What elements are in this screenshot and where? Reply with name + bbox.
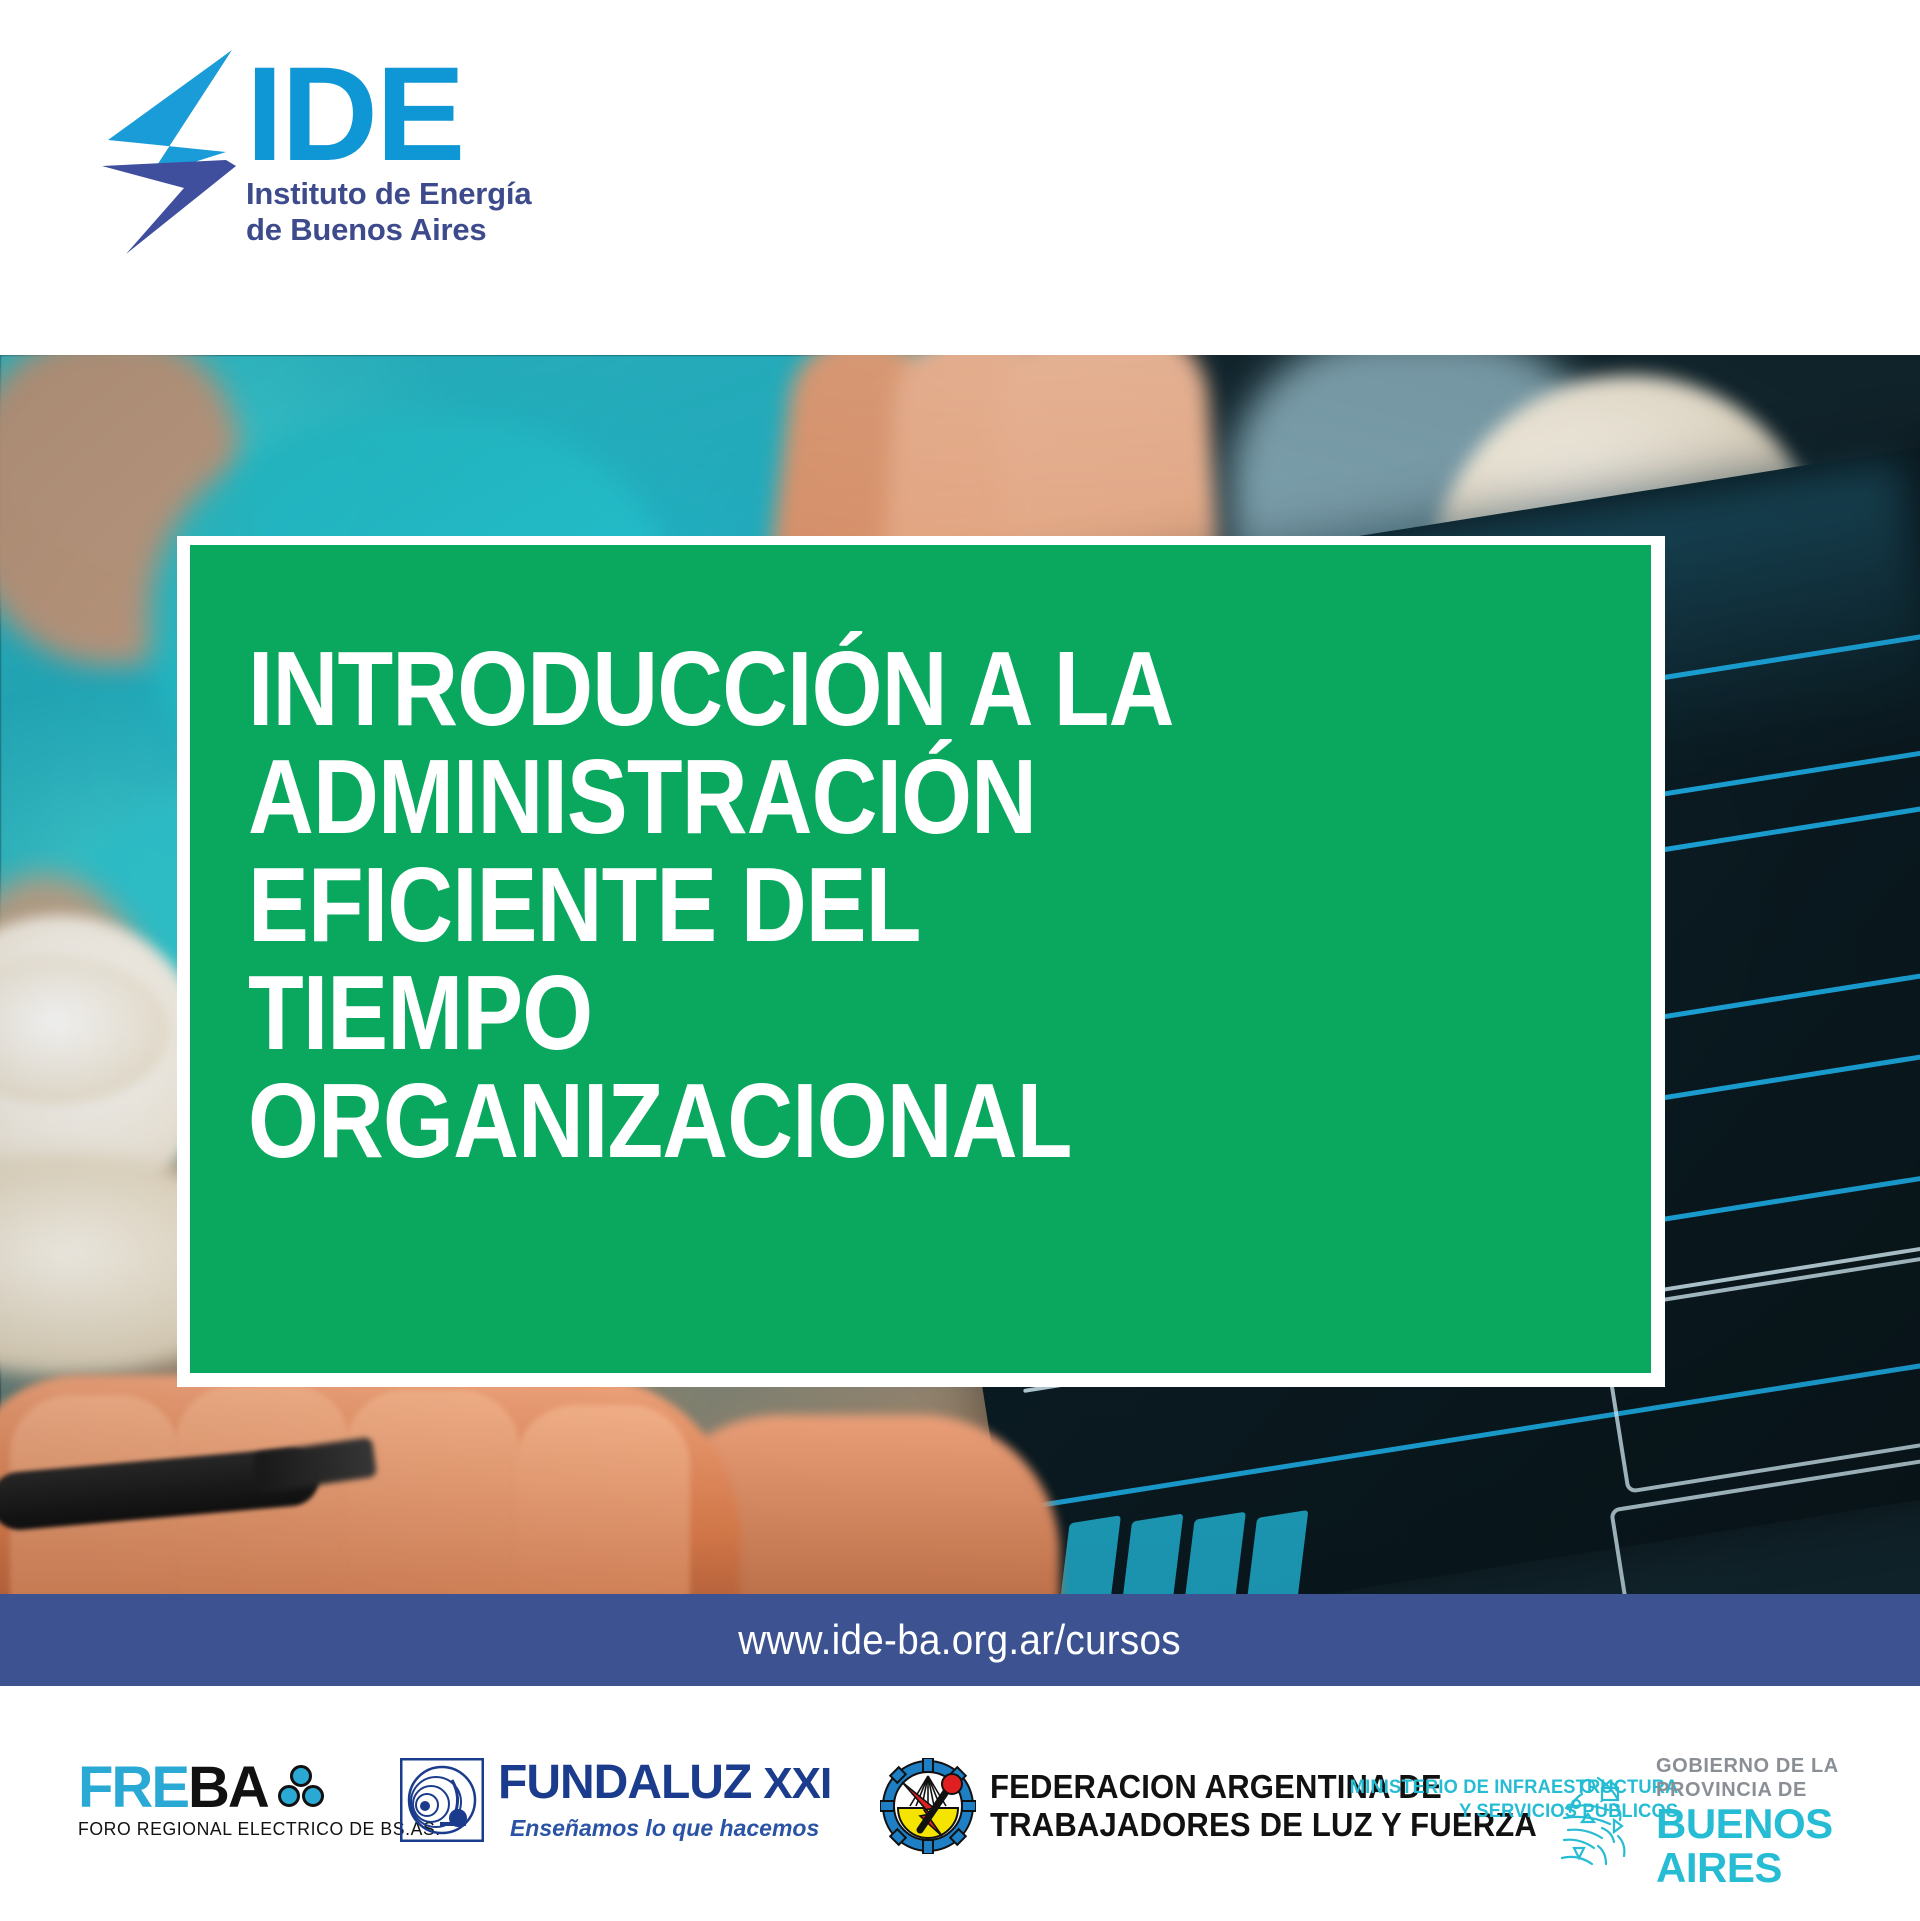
- website-url-bar[interactable]: www.ide-ba.org.ar/cursos: [0, 1594, 1920, 1686]
- fundaluz-suffix: XXI: [763, 1759, 831, 1809]
- freba-name-part1: FRE: [78, 1760, 188, 1815]
- sponsor-logo-gobierno-buenos-aires[interactable]: GOBIERNO DE LA PROVINCIA DE BUENOS AIRES: [1558, 1754, 1920, 1890]
- freba-wordmark: FRE BA: [78, 1760, 324, 1815]
- course-title-panel: INTRODUCCIÓN A LA ADMINISTRACIÓN EFICIEN…: [190, 545, 1651, 1373]
- course-title-card: INTRODUCCIÓN A LA ADMINISTRACIÓN EFICIEN…: [177, 536, 1665, 1387]
- ide-tagline-line2: de Buenos Aires: [246, 212, 531, 249]
- fundaluz-seal-icon: [400, 1758, 484, 1842]
- ide-tagline-line1: Instituto de Energía: [246, 176, 531, 213]
- freba-name-part2: BA: [188, 1760, 268, 1815]
- fundaluz-name: FUNDALUZ: [498, 1759, 751, 1807]
- gobierno-wordmark: GOBIERNO DE LA PROVINCIA DE BUENOS AIRES: [1656, 1754, 1920, 1890]
- ide-tagline: Instituto de Energía de Buenos Aires: [246, 176, 531, 249]
- sponsor-logo-fundaluz[interactable]: FUNDALUZ XXI Enseñamos lo que hacemos: [400, 1758, 831, 1842]
- fundaluz-tagline: Enseñamos lo que hacemos: [498, 1815, 831, 1842]
- ide-logo[interactable]: IDE Instituto de Energía de Buenos Aires: [98, 48, 531, 256]
- sponsor-logo-row: FRE BA FORO REGIONAL ELECTRICO DE BS.AS.: [0, 1686, 1920, 1921]
- provincia-buenos-aires-illustration-icon: [1558, 1774, 1644, 1870]
- fundaluz-wordmark: FUNDALUZ XXI Enseñamos lo que hacemos: [498, 1759, 831, 1842]
- gobierno-line1: GOBIERNO DE LA PROVINCIA DE: [1656, 1754, 1920, 1802]
- freba-subtitle: FORO REGIONAL ELECTRICO DE BS.AS.: [78, 1819, 441, 1840]
- sponsor-logo-freba[interactable]: FRE BA FORO REGIONAL ELECTRICO DE BS.AS.: [78, 1760, 448, 1840]
- three-circles-icon: [278, 1765, 324, 1811]
- website-url[interactable]: www.ide-ba.org.ar/cursos: [739, 1616, 1182, 1664]
- sponsors-footer: FRE BA FORO REGIONAL ELECTRICO DE BS.AS.: [0, 1686, 1920, 1921]
- page-title: INTRODUCCIÓN A LA ADMINISTRACIÓN EFICIEN…: [248, 635, 1420, 1176]
- gobierno-line2: BUENOS AIRES: [1656, 1802, 1920, 1890]
- ide-acronym: IDE: [246, 60, 531, 170]
- lightning-bolt-icon: [98, 48, 238, 256]
- page-header: IDE Instituto de Energía de Buenos Aires: [0, 0, 1920, 355]
- gear-with-lightning-and-torch-icon: [880, 1758, 976, 1854]
